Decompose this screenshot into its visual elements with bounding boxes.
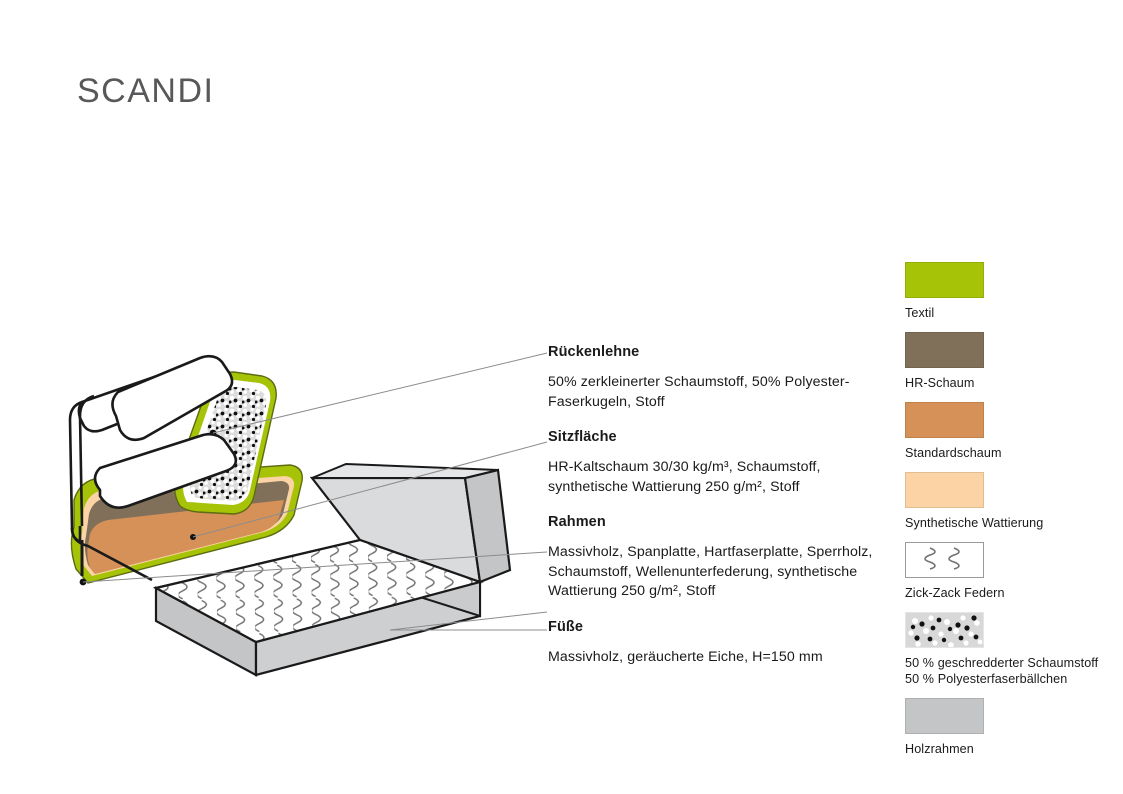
sofa-cutaway-illustration (60, 330, 620, 730)
spec-heading-rueckenlehne: Rückenlehne (548, 344, 888, 360)
spec-body-fuesse: Massivholz, geräucherte Eiche, H=150 mm (548, 648, 888, 668)
spec-block-rueckenlehne: Rückenlehne 50% zerkleinerter Schaumstof… (548, 344, 888, 412)
spec-heading-fuesse: Füße (548, 619, 888, 635)
legend-label-geschredderter-schaumstoff: 50 % geschredderter Schaumstoff 50 % Pol… (905, 655, 1105, 687)
spec-heading-rahmen: Rahmen (548, 514, 888, 530)
legend-swatch-hr-schaum (905, 332, 984, 368)
legend-swatch-synth-wattierung (905, 472, 984, 508)
legend-item-standardschaum: Standardschaum (905, 402, 1105, 461)
legend-item-geschredderter-schaumstoff: 50 % geschredderter Schaumstoff 50 % Pol… (905, 612, 1105, 687)
legend-item-hr-schaum: HR-Schaum (905, 332, 1105, 391)
legend-label-holzrahmen: Holzrahmen (905, 741, 1105, 757)
spec-heading-sitzflaeche: Sitzfläche (548, 429, 888, 445)
legend-swatch-standardschaum (905, 402, 984, 438)
spec-body-rueckenlehne: 50% zerkleinerter Schaumstoff, 50% Polye… (548, 373, 888, 412)
legend-swatch-textil (905, 262, 984, 298)
legend-swatch-holzrahmen (905, 698, 984, 734)
page-title: SCANDI (77, 72, 214, 111)
spec-block-sitzflaeche: Sitzfläche HR-Kaltschaum 30/30 kg/m³, Sc… (548, 429, 888, 497)
spec-body-rahmen: Massivholz, Spanplatte, Hartfaserplatte,… (548, 543, 888, 602)
legend-item-textil: Textil (905, 262, 1105, 321)
legend-item-synth-wattierung: Synthetische Wattierung (905, 472, 1105, 531)
material-legend: Textil HR-Schaum Standardschaum Syntheti… (905, 262, 1105, 768)
specification-list: Rückenlehne 50% zerkleinerter Schaumstof… (548, 344, 888, 684)
legend-label-standardschaum: Standardschaum (905, 445, 1105, 461)
legend-item-zick-zack-federn: Zick-Zack Federn (905, 542, 1105, 601)
legend-label-hr-schaum: HR-Schaum (905, 375, 1105, 391)
spec-block-rahmen: Rahmen Massivholz, Spanplatte, Hartfaser… (548, 514, 888, 602)
legend-label-synth-wattierung: Synthetische Wattierung (905, 515, 1105, 531)
legend-label-textil: Textil (905, 305, 1105, 321)
legend-swatch-zick-zack-federn (905, 542, 984, 578)
spec-body-sitzflaeche: HR-Kaltschaum 30/30 kg/m³, Schaumstoff, … (548, 458, 888, 497)
legend-label-zick-zack-federn: Zick-Zack Federn (905, 585, 1105, 601)
legend-swatch-geschredderter-schaumstoff (905, 612, 984, 648)
spec-block-fuesse: Füße Massivholz, geräucherte Eiche, H=15… (548, 619, 888, 668)
legend-item-holzrahmen: Holzrahmen (905, 698, 1105, 757)
